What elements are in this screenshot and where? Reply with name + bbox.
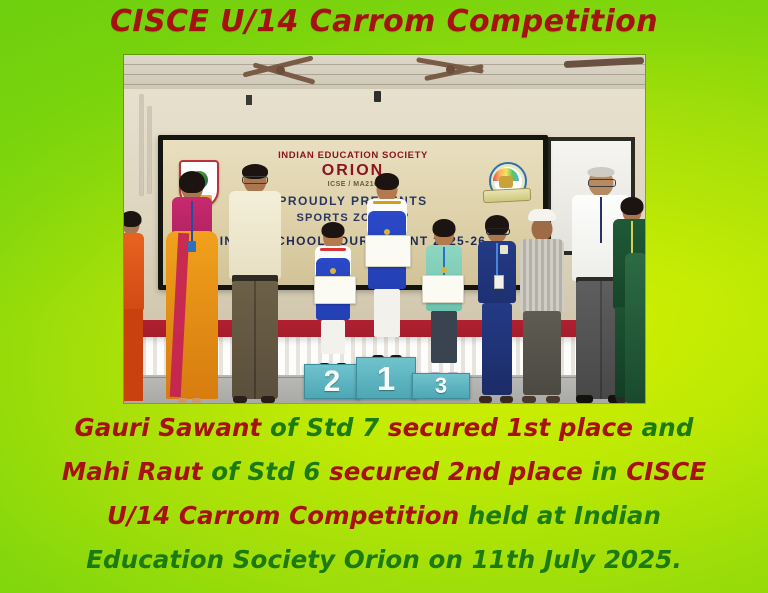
podium-block-second: 2 bbox=[304, 364, 360, 399]
page-title: CISCE U/14 Carrom Competition bbox=[0, 4, 768, 39]
person-student-navy-tracksuit bbox=[474, 215, 520, 403]
podium-block-first: 1 bbox=[356, 357, 416, 399]
person-student-second-place bbox=[309, 222, 357, 370]
caption-line: U/14 Carrom Competition held at Indian bbox=[12, 494, 756, 538]
winners-podium: 2 1 3 bbox=[304, 357, 479, 399]
banner-line-1: INDIAN EDUCATION SOCIETY bbox=[163, 150, 543, 161]
podium-number-3: 3 bbox=[435, 375, 447, 397]
certificate bbox=[422, 275, 464, 303]
person-teacher-cream-shirt bbox=[224, 163, 286, 403]
podium-number-1: 1 bbox=[377, 362, 395, 395]
podium-number-2: 2 bbox=[324, 367, 341, 397]
ceiling-beam bbox=[564, 57, 644, 68]
person-partial-left-edge bbox=[124, 193, 144, 403]
certificate bbox=[365, 235, 411, 267]
event-photograph: INDIAN EDUCATION SOCIETY ORION ICSE / MA… bbox=[124, 55, 645, 403]
person-student-third-place bbox=[420, 219, 468, 379]
caption-line: Education Society Orion on 11th July 202… bbox=[12, 538, 756, 582]
person-partial-right-edge bbox=[624, 213, 645, 403]
ceiling bbox=[124, 55, 645, 93]
person-student-first-place bbox=[361, 173, 413, 363]
certificate bbox=[314, 276, 356, 304]
person-man-white-cap bbox=[516, 207, 568, 403]
caption-line: Mahi Raut of Std 6 secured 2nd place in … bbox=[12, 450, 756, 494]
podium-block-third: 3 bbox=[412, 373, 470, 399]
caption-text: Gauri Sawant of Std 7 secured 1st place … bbox=[12, 406, 756, 582]
caption-line: Gauri Sawant of Std 7 secured 1st place … bbox=[12, 406, 756, 450]
person-teacher-saree bbox=[162, 171, 222, 403]
poster-background: CISCE U/14 Carrom Competition bbox=[0, 0, 768, 593]
